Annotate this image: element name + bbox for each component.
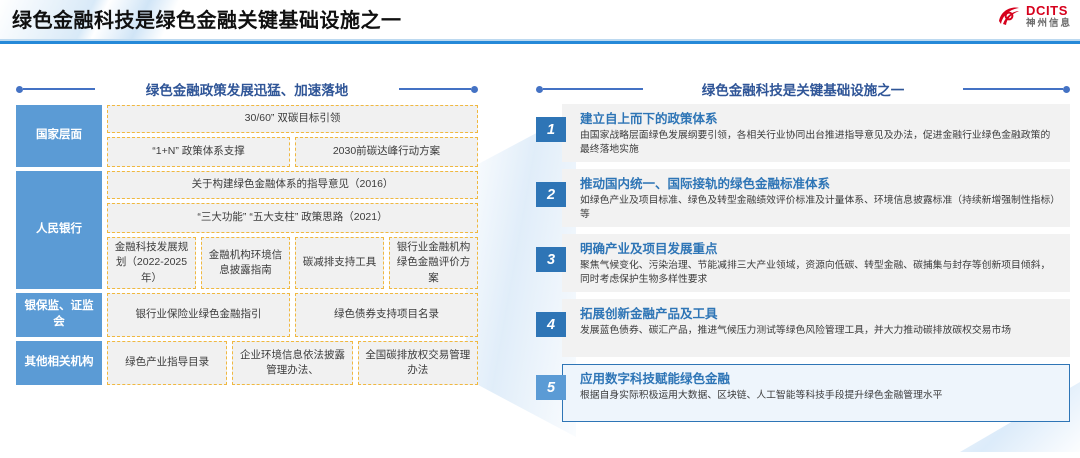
row-label: 人民银行: [16, 171, 102, 289]
infrastructure-list: 1建立自上而下的政策体系由国家战略层面绿色发展纲要引领，各相关行业协同出台推进指…: [536, 104, 1070, 429]
row-cells: 30/60” 双碳目标引领“1+N” 政策体系支撑2030前碳达峰行动方案: [107, 105, 478, 167]
cell-row: 银行业保险业绿色金融指引绿色债券支持项目名录: [107, 293, 478, 337]
bullet-dot-icon: [536, 86, 543, 93]
bullet-dot-icon: [1063, 86, 1070, 93]
policy-cell[interactable]: 企业环境信息依法披露管理办法、: [232, 341, 352, 385]
cell-row: 绿色产业指导目录企业环境信息依法披露管理办法、全国碳排放权交易管理办法: [107, 341, 478, 385]
item-number-badge: 3: [536, 247, 566, 272]
infrastructure-item[interactable]: 1建立自上而下的政策体系由国家战略层面绿色发展纲要引领，各相关行业协同出台推进指…: [536, 104, 1070, 165]
policy-cell[interactable]: 关于构建绿色金融体系的指导意见（2016）: [107, 171, 478, 199]
infrastructure-item[interactable]: 2推动国内统一、国际接轨的绿色金融标准体系如绿色产业及项目标准、绿色及转型金融绩…: [536, 169, 1070, 230]
rule-bar: [543, 88, 643, 90]
right-section-header: 绿色金融科技是关键基础设施之一: [536, 79, 1070, 99]
left-rule-end: [399, 86, 478, 93]
item-description: 发展蓝色债券、碳汇产品，推进气候压力测试等绿色风险管理工具，并大力推动碳排放碳权…: [580, 324, 1056, 338]
item-text: 明确产业及项目发展重点聚焦气候变化、污染治理、节能减排三大产业领域，资源向低碳、…: [580, 241, 1056, 288]
slide-canvas: 绿色金融科技是绿色金融关键基础设施之一 DCITS 神州信息 绿色金融政策发展迅…: [0, 0, 1080, 458]
infrastructure-item[interactable]: 3明确产业及项目发展重点聚焦气候变化、污染治理、节能减排三大产业领域，资源向低碳…: [536, 234, 1070, 295]
item-description: 由国家战略层面绿色发展纲要引领，各相关行业协同出台推进指导意见及办法，促进金融行…: [580, 129, 1056, 157]
policy-cell[interactable]: “1+N” 政策体系支撑: [107, 137, 290, 167]
table-row: 其他相关机构绿色产业指导目录企业环境信息依法披露管理办法、全国碳排放权交易管理办…: [16, 341, 478, 385]
policy-cell[interactable]: 银行业金融机构绿色金融评价方案: [389, 237, 478, 289]
policy-cell[interactable]: 绿色债券支持项目名录: [295, 293, 478, 337]
item-title: 推动国内统一、国际接轨的绿色金融标准体系: [580, 176, 1056, 192]
title-divider: [0, 41, 1080, 44]
item-title: 建立自上而下的政策体系: [580, 111, 1056, 127]
company-logo: DCITS 神州信息: [997, 4, 1072, 29]
table-row: 人民银行关于构建绿色金融体系的指导意见（2016）“三大功能” “五大支柱” 政…: [16, 171, 478, 289]
left-rule-start: [16, 86, 95, 93]
table-row: 国家层面30/60” 双碳目标引领“1+N” 政策体系支撑2030前碳达峰行动方…: [16, 105, 478, 167]
row-label: 国家层面: [16, 105, 102, 167]
policy-cell[interactable]: 2030前碳达峰行动方案: [295, 137, 478, 167]
item-number-badge: 4: [536, 312, 566, 337]
row-cells: 关于构建绿色金融体系的指导意见（2016）“三大功能” “五大支柱” 政策思路（…: [107, 171, 478, 289]
item-description: 聚焦气候变化、污染治理、节能减排三大产业领域，资源向低碳、转型金融、碳捕集与封存…: [580, 259, 1056, 287]
right-rule-end: [963, 86, 1070, 93]
item-number-badge: 1: [536, 117, 566, 142]
item-text: 应用数字科技赋能绿色金融根据自身实际积极运用大数据、区块链、人工智能等科技手段提…: [580, 371, 1056, 403]
item-text: 拓展创新金融产品及工具发展蓝色债券、碳汇产品，推进气候压力测试等绿色风险管理工具…: [580, 306, 1056, 338]
bullet-dot-icon: [16, 86, 23, 93]
logo-text-en: DCITS: [1026, 4, 1072, 17]
infrastructure-item[interactable]: 5应用数字科技赋能绿色金融根据自身实际积极运用大数据、区块链、人工智能等科技手段…: [536, 364, 1070, 425]
row-label: 银保监、证监会: [16, 293, 102, 337]
bullet-dot-icon: [471, 86, 478, 93]
right-rule-start: [536, 86, 643, 93]
cell-row: “1+N” 政策体系支撑2030前碳达峰行动方案: [107, 137, 478, 167]
policy-cell[interactable]: 金融科技发展规划（2022-2025年）: [107, 237, 196, 289]
table-row: 银保监、证监会银行业保险业绿色金融指引绿色债券支持项目名录: [16, 293, 478, 337]
rule-bar: [963, 88, 1063, 90]
cell-row: 关于构建绿色金融体系的指导意见（2016）: [107, 171, 478, 199]
row-label: 其他相关机构: [16, 341, 102, 385]
cell-row: 30/60” 双碳目标引领: [107, 105, 478, 133]
page-title: 绿色金融科技是绿色金融关键基础设施之一: [12, 4, 402, 33]
policy-cell[interactable]: 全国碳排放权交易管理办法: [358, 341, 478, 385]
item-description: 如绿色产业及项目标准、绿色及转型金融绩效评价标准及计量体系、环境信息披露标准（持…: [580, 194, 1056, 222]
policy-cell[interactable]: 绿色产业指导目录: [107, 341, 227, 385]
rule-bar: [23, 88, 95, 90]
item-number-badge: 5: [536, 375, 566, 400]
policy-cell[interactable]: 金融机构环境信息披露指南: [201, 237, 290, 289]
right-section-title: 绿色金融科技是关键基础设施之一: [702, 79, 905, 99]
row-cells: 银行业保险业绿色金融指引绿色债券支持项目名录: [107, 293, 478, 337]
item-description: 根据自身实际积极运用大数据、区块链、人工智能等科技手段提升绿色金融管理水平: [580, 389, 1056, 403]
cell-row: 金融科技发展规划（2022-2025年）金融机构环境信息披露指南碳减排支持工具银…: [107, 237, 478, 289]
policy-cell[interactable]: 碳减排支持工具: [295, 237, 384, 289]
left-section-title: 绿色金融政策发展迅猛、加速落地: [146, 79, 349, 99]
item-title: 应用数字科技赋能绿色金融: [580, 371, 1056, 387]
item-text: 推动国内统一、国际接轨的绿色金融标准体系如绿色产业及项目标准、绿色及转型金融绩效…: [580, 176, 1056, 223]
dcits-swirl-icon: [997, 5, 1021, 27]
cell-row: “三大功能” “五大支柱” 政策思路（2021）: [107, 203, 478, 233]
policy-cell[interactable]: “三大功能” “五大支柱” 政策思路（2021）: [107, 203, 478, 233]
item-title: 拓展创新金融产品及工具: [580, 306, 1056, 322]
item-number-badge: 2: [536, 182, 566, 207]
row-cells: 绿色产业指导目录企业环境信息依法披露管理办法、全国碳排放权交易管理办法: [107, 341, 478, 385]
left-section-header: 绿色金融政策发展迅猛、加速落地: [16, 79, 478, 99]
policy-cell[interactable]: 30/60” 双碳目标引领: [107, 105, 478, 133]
policy-table: 国家层面30/60” 双碳目标引领“1+N” 政策体系支撑2030前碳达峰行动方…: [16, 105, 478, 389]
item-text: 建立自上而下的政策体系由国家战略层面绿色发展纲要引领，各相关行业协同出台推进指导…: [580, 111, 1056, 158]
infrastructure-item[interactable]: 4拓展创新金融产品及工具发展蓝色债券、碳汇产品，推进气候压力测试等绿色风险管理工…: [536, 299, 1070, 360]
item-title: 明确产业及项目发展重点: [580, 241, 1056, 257]
policy-cell[interactable]: 银行业保险业绿色金融指引: [107, 293, 290, 337]
rule-bar: [399, 88, 471, 90]
logo-text-cn: 神州信息: [1026, 19, 1072, 29]
